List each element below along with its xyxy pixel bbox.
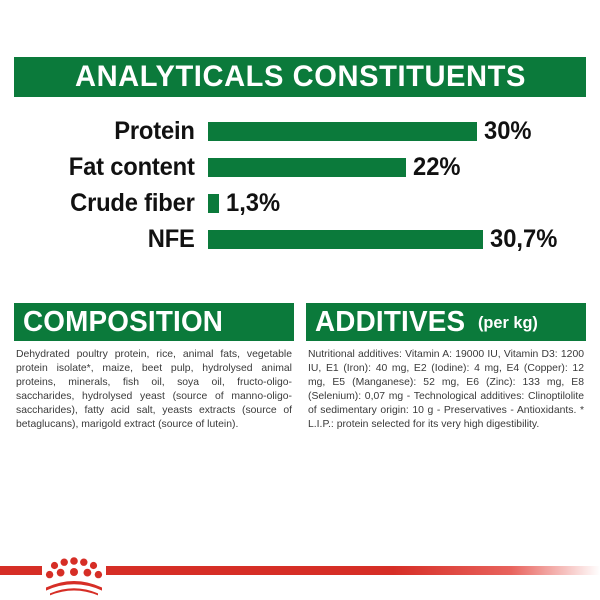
chart-bar-label: Fat content	[10, 155, 208, 180]
composition-panel: COMPOSITION Dehydrated poultry protein, …	[14, 303, 294, 433]
chart-bar-value: 22%	[413, 155, 461, 180]
info-panels: COMPOSITION Dehydrated poultry protein, …	[14, 303, 586, 433]
chart-bar-track: 22%	[208, 155, 600, 180]
chart-row: NFE 30,7%	[0, 224, 600, 255]
chart-bar-fill	[208, 122, 477, 141]
additives-header-subtitle: (per kg)	[478, 314, 538, 331]
composition-header-title: COMPOSITION	[23, 308, 223, 337]
chart-row: Crude fiber 1,3%	[0, 188, 600, 219]
red-band-right-segment	[106, 566, 600, 575]
chart-bar-label: Crude fiber	[10, 191, 208, 216]
royal-canin-crown-icon	[41, 552, 107, 596]
chart-bar-track: 30,7%	[208, 227, 600, 252]
additives-body-text: Nutritional additives: Vitamin A: 19000 …	[306, 341, 586, 433]
chart-bar-track: 1,3%	[208, 191, 600, 216]
chart-bar-value: 30,7%	[490, 227, 557, 252]
additives-header-title: ADDITIVES	[315, 308, 465, 337]
chart-bar-track: 30%	[208, 119, 600, 144]
chart-row: Fat content 22%	[0, 152, 600, 183]
nutrition-label-page: ANALYTICALS CONSTITUENTS Protein 30% Fat…	[0, 0, 600, 600]
footer-brand-band	[0, 552, 600, 600]
chart-bar-fill	[208, 158, 406, 177]
additives-header-bar: ADDITIVES (per kg)	[306, 303, 586, 341]
chart-bar-label: Protein	[10, 119, 208, 144]
chart-bar-label: NFE	[10, 227, 208, 252]
chart-row: Protein 30%	[0, 116, 600, 147]
chart-bar-fill	[208, 230, 483, 249]
analyticals-header-title: ANALYTICALS CONSTITUENTS	[74, 62, 525, 92]
chart-bar-value: 1,3%	[226, 191, 280, 216]
composition-header-bar: COMPOSITION	[14, 303, 294, 341]
composition-body-text: Dehydrated poultry protein, rice, animal…	[14, 341, 294, 433]
analyticals-bar-chart: Protein 30% Fat content 22% Crude fiber …	[0, 116, 600, 260]
chart-bar-fill	[208, 194, 219, 213]
chart-bar-value: 30%	[484, 119, 532, 144]
analyticals-header-bar: ANALYTICALS CONSTITUENTS	[14, 57, 586, 97]
red-band-left-segment	[0, 566, 42, 575]
additives-panel: ADDITIVES (per kg) Nutritional additives…	[306, 303, 586, 433]
